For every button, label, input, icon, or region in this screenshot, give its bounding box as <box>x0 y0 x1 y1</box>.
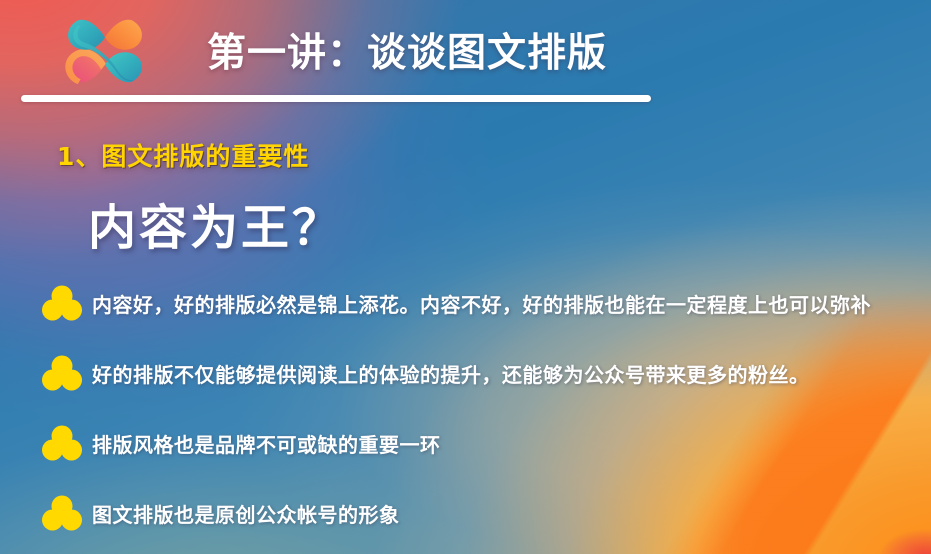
list-item: 好的排版不仅能够提供阅读上的体验的提升，还能够为公众号带来更多的粉丝。 <box>0 338 931 408</box>
bullet-list: 内容好，好的排版必然是锦上添花。内容不好，好的排版也能在一定程度上也可以弥补 好… <box>0 268 931 548</box>
headline: 内容为王？ <box>88 188 343 258</box>
list-item-text: 内容好，好的排版必然是锦上添花。内容不好，好的排版也能在一定程度上也可以弥补 <box>92 289 871 318</box>
presentation-slide: 第一讲：谈谈图文排版 1、图文排版的重要性 内容为王？ 内容好，好的排版必然是锦… <box>0 0 931 554</box>
clover-trefoil-bullet-icon <box>42 355 82 391</box>
header-divider <box>21 95 651 102</box>
list-item: 图文排版也是原创公众帐号的形象 <box>0 478 931 548</box>
list-item-text: 排版风格也是品牌不可或缺的重要一环 <box>92 429 441 458</box>
list-item-text: 图文排版也是原创公众帐号的形象 <box>92 499 400 528</box>
list-item: 排版风格也是品牌不可或缺的重要一环 <box>0 408 931 478</box>
list-item: 内容好，好的排版必然是锦上添花。内容不好，好的排版也能在一定程度上也可以弥补 <box>0 268 931 338</box>
ribbon-x-logo <box>56 12 154 90</box>
list-item-text: 好的排版不仅能够提供阅读上的体验的提升，还能够为公众号带来更多的粉丝。 <box>92 359 810 388</box>
clover-trefoil-bullet-icon <box>42 495 82 531</box>
slide-header: 第一讲：谈谈图文排版 <box>0 0 931 104</box>
clover-trefoil-bullet-icon <box>42 425 82 461</box>
clover-trefoil-bullet-icon <box>42 285 82 321</box>
section-label: 1、图文排版的重要性 <box>57 137 309 173</box>
page-title: 第一讲：谈谈图文排版 <box>207 22 607 78</box>
